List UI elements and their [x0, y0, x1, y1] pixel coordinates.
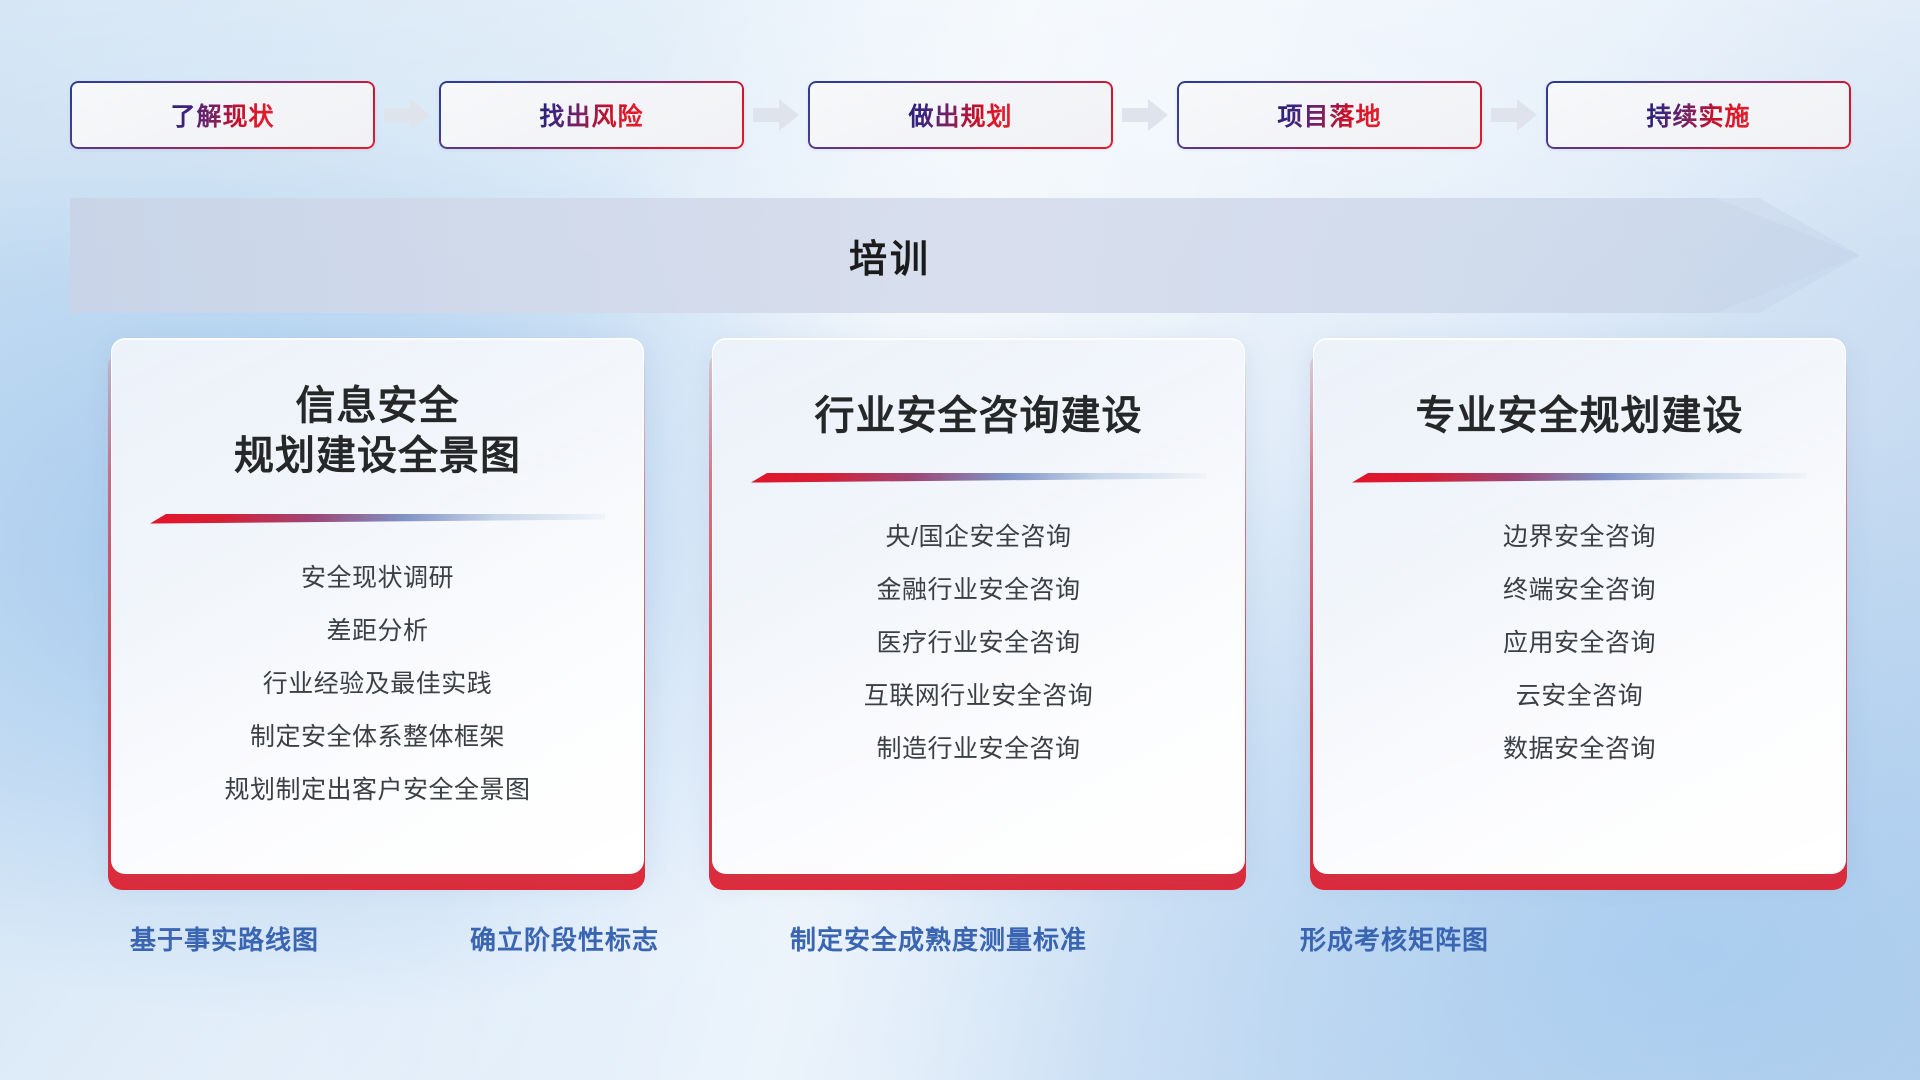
process-step-chip-5[interactable]: 持续实施 [1546, 81, 1851, 149]
process-step-label: 了解现状 [170, 97, 274, 133]
process-step-chip-2[interactable]: 找出风险 [439, 81, 744, 149]
service-card-3[interactable]: 专业安全规划建设边界安全咨询终端安全咨询应用安全咨询云安全咨询数据安全咨询 [1310, 338, 1847, 890]
list-item: 安全现状调研 [301, 558, 454, 594]
card-body: 行业安全咨询建设央/国企安全咨询金融行业安全咨询医疗行业安全咨询互联网行业安全咨… [712, 338, 1245, 874]
arrow-right-icon [383, 98, 431, 132]
list-item: 差距分析 [326, 611, 428, 647]
footnote-row: 基于事实路线图确立阶段性标志制定安全成熟度测量标准形成考核矩阵图 [0, 920, 1920, 964]
arrow-right-icon [752, 98, 800, 132]
service-card-2[interactable]: 行业安全咨询建设央/国企安全咨询金融行业安全咨询医疗行业安全咨询互联网行业安全咨… [709, 338, 1246, 890]
banner-label: 培训 [70, 198, 1710, 313]
footnote-label-4: 形成考核矩阵图 [1300, 920, 1489, 957]
training-banner: 培训 [70, 198, 1860, 313]
list-item: 规划制定出客户安全全景图 [224, 770, 530, 806]
list-item: 行业经验及最佳实践 [263, 664, 493, 700]
gradient-divider-icon [1352, 471, 1807, 483]
process-step-chip-3[interactable]: 做出规划 [808, 81, 1113, 149]
arrow-right-icon [1121, 98, 1169, 132]
list-item: 金融行业安全咨询 [876, 570, 1080, 606]
card-body: 信息安全 规划建设全景图安全现状调研差距分析行业经验及最佳实践制定安全体系整体框… [111, 338, 644, 874]
process-step-label: 项目落地 [1277, 97, 1381, 133]
list-item: 医疗行业安全咨询 [876, 623, 1080, 659]
process-step-label: 找出风险 [539, 97, 643, 133]
process-step-label: 持续实施 [1646, 97, 1750, 133]
list-item: 终端安全咨询 [1503, 570, 1656, 606]
process-step-chip-1[interactable]: 了解现状 [70, 81, 375, 149]
footnote-label-3: 制定安全成熟度测量标准 [790, 920, 1087, 957]
list-item: 制造行业安全咨询 [876, 729, 1080, 765]
card-item-list: 安全现状调研差距分析行业经验及最佳实践制定安全体系整体框架规划制定出客户安全全景… [112, 558, 643, 806]
arrow-right-icon [1490, 98, 1538, 132]
card-item-list: 边界安全咨询终端安全咨询应用安全咨询云安全咨询数据安全咨询 [1314, 517, 1845, 765]
process-step-chip-4[interactable]: 项目落地 [1177, 81, 1482, 149]
process-step-row: 了解现状找出风险做出规划项目落地持续实施 [70, 80, 1860, 150]
list-item: 边界安全咨询 [1503, 517, 1656, 553]
list-item: 央/国企安全咨询 [886, 517, 1072, 553]
card-title: 专业安全规划建设 [1400, 391, 1760, 441]
gradient-divider-icon [751, 471, 1206, 483]
gradient-divider-icon [150, 512, 605, 524]
footnote-label-1: 基于事实路线图 [130, 920, 319, 957]
card-body: 专业安全规划建设边界安全咨询终端安全咨询应用安全咨询云安全咨询数据安全咨询 [1313, 338, 1846, 874]
card-title: 信息安全 规划建设全景图 [218, 381, 537, 482]
cards-row: 信息安全 规划建设全景图安全现状调研差距分析行业经验及最佳实践制定安全体系整体框… [108, 338, 1848, 890]
list-item: 应用安全咨询 [1503, 623, 1656, 659]
process-step-label: 做出规划 [908, 97, 1012, 133]
footnote-label-2: 确立阶段性标志 [470, 920, 659, 957]
card-title: 行业安全咨询建设 [799, 391, 1159, 441]
list-item: 互联网行业安全咨询 [864, 676, 1094, 712]
list-item: 数据安全咨询 [1503, 729, 1656, 765]
list-item: 云安全咨询 [1516, 676, 1644, 712]
list-item: 制定安全体系整体框架 [250, 717, 505, 753]
card-item-list: 央/国企安全咨询金融行业安全咨询医疗行业安全咨询互联网行业安全咨询制造行业安全咨… [713, 517, 1244, 765]
service-card-1[interactable]: 信息安全 规划建设全景图安全现状调研差距分析行业经验及最佳实践制定安全体系整体框… [108, 338, 645, 890]
